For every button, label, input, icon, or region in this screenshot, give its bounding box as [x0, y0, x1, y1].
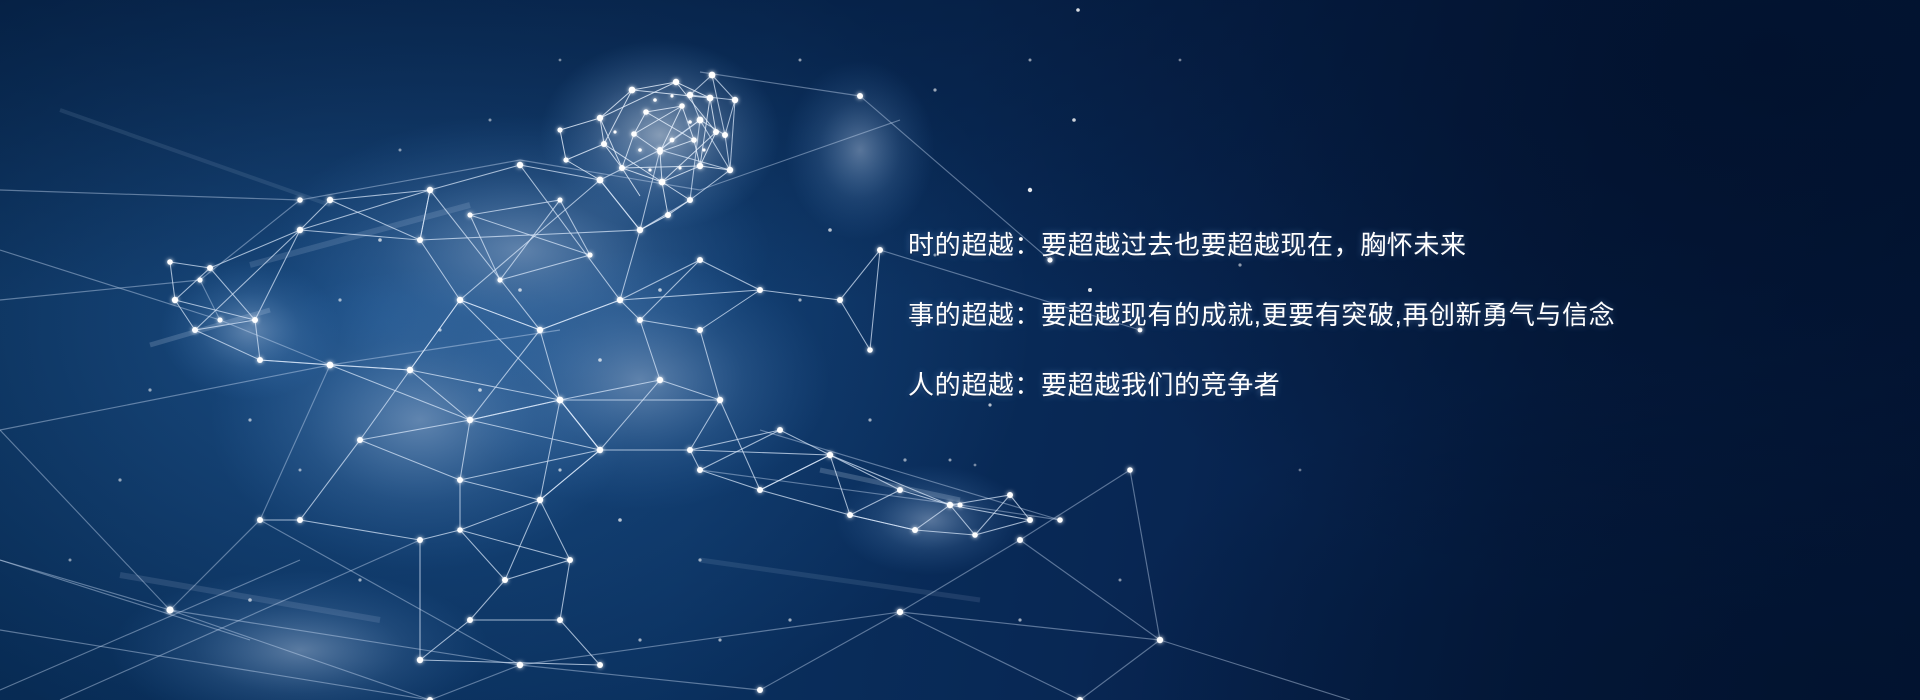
figure-glow-layer: [110, 40, 1025, 700]
tagline-people: 人的超越：要超越我们的竞争者: [908, 372, 1868, 398]
tagline-matter: 事的超越：要超越现有的成就,更要有突破,再创新勇气与信念: [908, 302, 1868, 328]
hero-banner: 时的超越：要超越过去也要超越现在，胸怀未来 事的超越：要超越现有的成就,更要有突…: [0, 0, 1920, 700]
tagline-block: 时的超越：要超越过去也要超越现在，胸怀未来 事的超越：要超越现有的成就,更要有突…: [908, 232, 1868, 398]
tagline-time: 时的超越：要超越过去也要超越现在，胸怀未来: [908, 232, 1868, 258]
